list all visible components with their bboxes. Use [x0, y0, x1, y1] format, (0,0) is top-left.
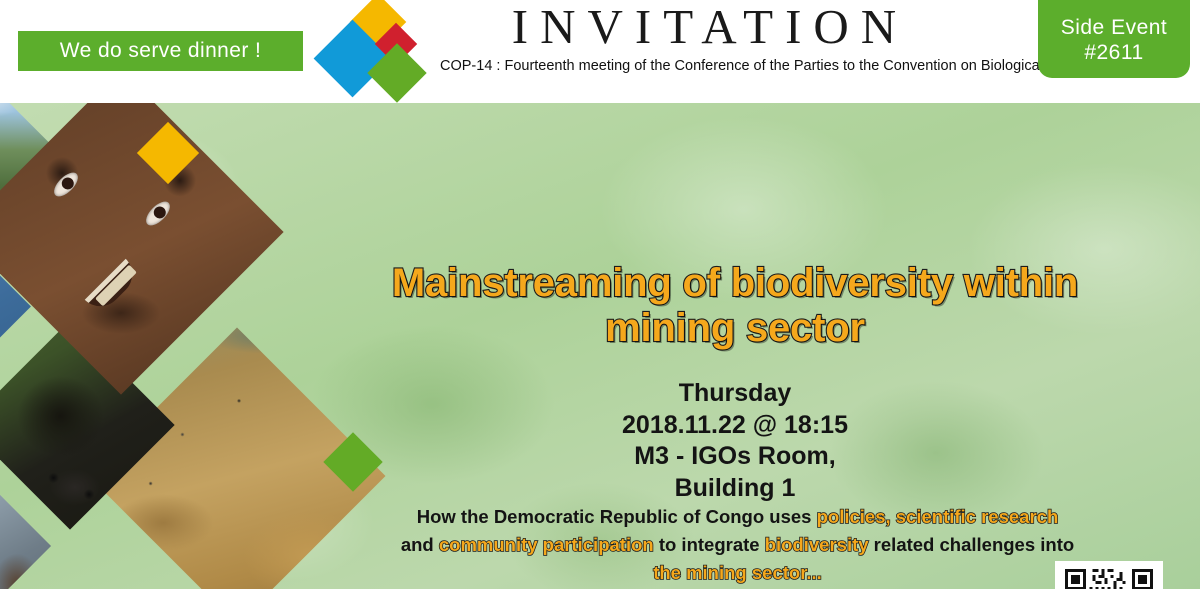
cop14-subtitle: COP-14 : Fourteenth meeting of the Confe… [440, 57, 980, 76]
poster-content: Mainstreaming of biodiversity within min… [390, 206, 1200, 589]
side-event-label: Side Event [1061, 16, 1168, 41]
description-highlight: community participation [439, 534, 654, 555]
invitation-heading: INVITATION [460, 2, 960, 52]
description-highlight: biodiversity [765, 534, 869, 555]
description-text: How the Democratic Republic of Congo use… [417, 506, 817, 527]
event-datetime-location: Thursday 2018.11.22 @ 18:15 M3 - IGOs Ro… [390, 378, 1080, 504]
side-event-number: #2611 [1084, 41, 1143, 66]
dinner-banner: We do serve dinner ! [18, 31, 303, 71]
poster-header: We do serve dinner ! INVITATION COP-14 :… [0, 0, 1200, 103]
description-highlight: the mining sector... [653, 562, 822, 583]
description-highlight: scientific research [896, 506, 1058, 527]
event-title: Mainstreaming of biodiversity within min… [390, 261, 1080, 351]
qr-code-container [1055, 561, 1163, 589]
description-text: and [401, 534, 439, 555]
description-highlight: policies, [817, 506, 891, 527]
poster-body: Mainstreaming of biodiversity within min… [0, 103, 1200, 589]
eye-right-shape [142, 198, 174, 230]
qr-code [1063, 569, 1155, 589]
description-text: related challenges into [869, 534, 1075, 555]
description-text: to integrate [654, 534, 765, 555]
eye-left-shape [50, 168, 82, 200]
event-description: How the Democratic Republic of Congo use… [400, 503, 1075, 587]
photo-collage [0, 103, 428, 589]
cbd-diamond-logo [316, 2, 436, 100]
side-event-badge: Side Event #2611 [1038, 0, 1190, 78]
invitation-poster: We do serve dinner ! INVITATION COP-14 :… [0, 0, 1200, 589]
